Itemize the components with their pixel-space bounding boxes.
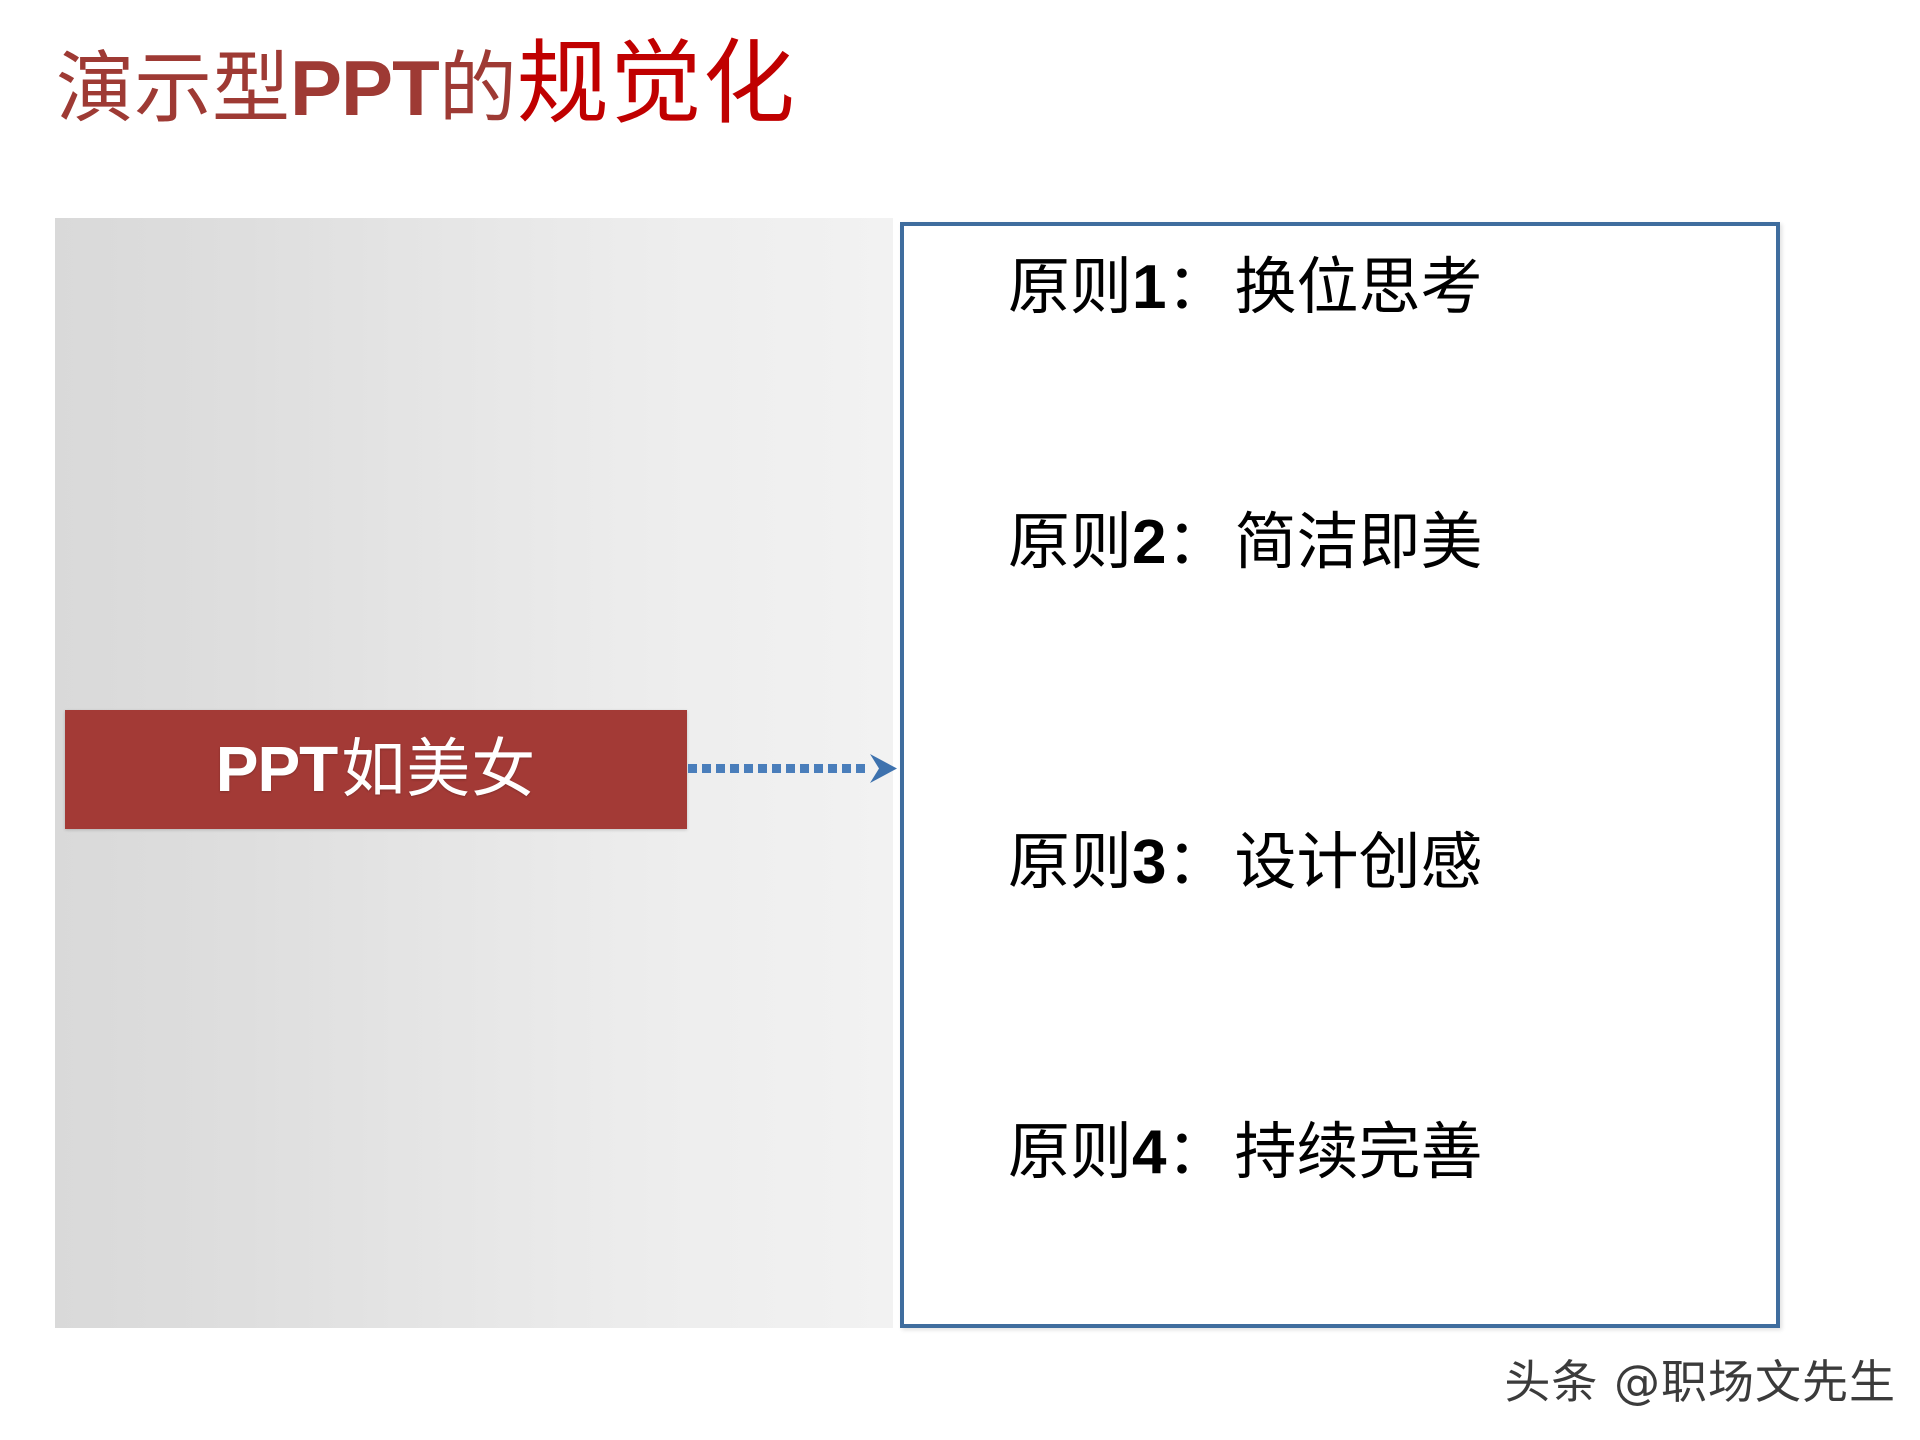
principles-panel: 原则1：换位思考 原则2：简洁即美 原则3：设计创感 原则4：持续完善 xyxy=(900,222,1780,1328)
red-label-text: PPT如美女 xyxy=(216,737,536,802)
title-text-prefix: 演示型 xyxy=(56,44,290,134)
principle-colon: ： xyxy=(1167,505,1229,578)
principle-body: 简洁即美 xyxy=(1235,505,1483,578)
title-segment-normal: 演示型PPT的 xyxy=(56,44,517,134)
title-segment-highlight: 规觉化 xyxy=(517,30,796,137)
list-item[interactable]: 原则1：换位思考 xyxy=(1008,256,1483,319)
red-label-box[interactable]: PPT如美女 xyxy=(65,710,687,829)
principle-label: 原则 xyxy=(1008,825,1132,898)
list-item[interactable]: 原则3：设计创感 xyxy=(1008,831,1483,894)
principles-list: 原则1：换位思考 原则2：简洁即美 原则3：设计创感 原则4：持续完善 xyxy=(904,226,1776,1324)
principle-number: 2 xyxy=(1132,508,1166,577)
principle-number: 3 xyxy=(1132,828,1166,897)
principle-number: 1 xyxy=(1132,253,1166,322)
list-item[interactable]: 原则4：持续完善 xyxy=(1008,1121,1483,1184)
principle-body: 设计创感 xyxy=(1235,825,1483,898)
watermark-attribution: 头条 @职场文先生 xyxy=(1504,1346,1896,1412)
principle-label: 原则 xyxy=(1008,250,1132,323)
principle-label: 原则 xyxy=(1008,1115,1132,1188)
slide-canvas: 演示型PPT的规觉化 PPT如美女 xyxy=(0,0,1920,1440)
title-text-particle: 的 xyxy=(439,44,517,134)
principle-colon: ： xyxy=(1167,250,1229,323)
list-item[interactable]: 原则2：简洁即美 xyxy=(1008,511,1483,574)
page-title: 演示型PPT的规觉化 xyxy=(56,38,796,130)
red-label-cjk: 如美女 xyxy=(341,733,536,807)
principle-label: 原则 xyxy=(1008,505,1132,578)
principle-number: 4 xyxy=(1132,1118,1166,1187)
principle-body: 换位思考 xyxy=(1235,250,1483,323)
title-text-latin: PPT xyxy=(290,44,439,132)
principle-colon: ： xyxy=(1167,1115,1229,1188)
dotted-arrow-icon xyxy=(688,752,900,786)
principle-colon: ： xyxy=(1167,825,1229,898)
principle-body: 持续完善 xyxy=(1235,1115,1483,1188)
red-label-latin: PPT xyxy=(216,733,337,805)
